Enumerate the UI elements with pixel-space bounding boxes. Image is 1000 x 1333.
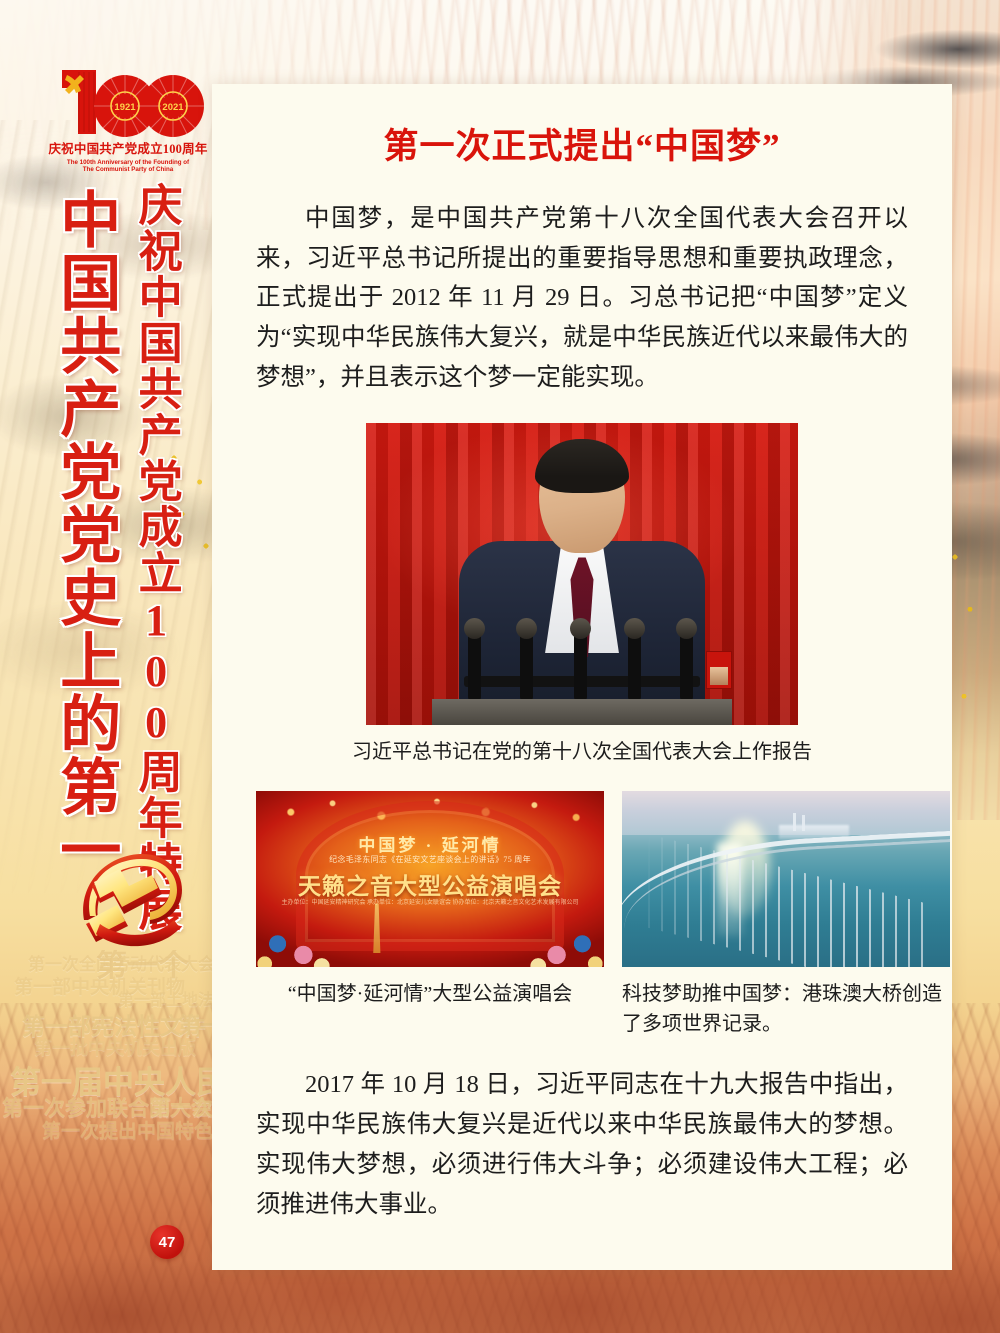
chinese-dream-yanhe-concert-poster: 中国梦 · 延河情 纪念毛泽东同志《在延安文艺座谈会上的讲话》75 周年 天籁之…	[256, 791, 604, 967]
bridge-pylon	[802, 815, 805, 831]
poster-fineprint: 主办单位：中国延安精神研究会 承办单位：北京延安儿女联谊会 协办单位：北京天籁之…	[256, 899, 604, 908]
vertical-title-sub: 庆祝中国共产党成立100周年特展	[132, 182, 179, 933]
peony-flower-right	[518, 919, 604, 967]
microphone-icon	[468, 629, 481, 701]
paragraph-1: 中国梦，是中国共产党第十八次全国代表大会召开以来，习近平总书记所提出的重要指导思…	[256, 199, 908, 397]
hammer-and-sickle-emblem-icon	[58, 828, 206, 958]
svg-text:2021: 2021	[162, 102, 184, 113]
figure-left: 中国梦 · 延河情 纪念毛泽东同志《在延安文艺座谈会上的讲话》75 周年 天籁之…	[256, 791, 604, 1039]
paragraph-2: 2017 年 10 月 18 日，习近平同志在十九大报告中指出，实现中华民族伟大…	[256, 1065, 908, 1224]
hong-kong-zhuhai-macau-bridge-photo	[622, 791, 950, 967]
xi-jinping-18th-congress-photo	[366, 423, 798, 725]
logo-english-line-2: The Communist Party of China	[48, 166, 208, 173]
hero-figure: 习近平总书记在党的第十八次全国代表大会上作报告	[256, 423, 908, 767]
vertical-title-main: 中国共产党党史上的第一	[52, 188, 114, 881]
bridge-pylon	[793, 813, 796, 831]
figure-row: 中国梦 · 延河情 纪念毛泽东同志《在延安文艺座谈会上的讲话》75 周年 天籁之…	[256, 791, 908, 1039]
poster-subtitle: 纪念毛泽东同志《在延安文艺座谈会上的讲话》75 周年	[256, 854, 604, 865]
microphone-icon	[520, 629, 533, 701]
page-number-badge: 47	[150, 1225, 184, 1259]
svg-text:1921: 1921	[114, 102, 136, 113]
poster-title: 中国梦 · 延河情	[256, 831, 604, 856]
microphone-icon	[680, 629, 693, 701]
delegate-badge	[706, 651, 732, 689]
logo-english-line-1: The 100th Anniversary of the Founding of	[48, 159, 208, 166]
podium	[432, 699, 732, 725]
content-card: 第一次正式提出“中国梦” 中国梦，是中国共产党第十八次全国代表大会召开以来，习近…	[212, 84, 952, 1270]
figure-right-caption: 科技梦助推中国梦：港珠澳大桥创造了多项世界记录。	[622, 979, 950, 1039]
hero-figure-caption: 习近平总书记在党的第十八次全国代表大会上作报告	[256, 738, 908, 767]
figure-right: 科技梦助推中国梦：港珠澳大桥创造了多项世界记录。	[622, 791, 950, 1039]
peony-flower-left	[256, 919, 342, 967]
microphone-icon	[574, 629, 587, 701]
microphone-cluster	[464, 615, 700, 701]
poster-headline: 天籁之音大型公益演唱会	[256, 867, 604, 901]
cpc-100th-anniversary-logo-icon: 1921 2021 庆祝中国共产党成立100周年 The 100th	[48, 62, 208, 167]
page-title: 第一次正式提出“中国梦”	[256, 118, 908, 169]
microphone-icon	[628, 629, 641, 701]
logo-chinese-line: 庆祝中国共产党成立100周年	[48, 138, 208, 157]
figure-left-caption: “中国梦·延河情”大型公益演唱会	[256, 979, 604, 1009]
